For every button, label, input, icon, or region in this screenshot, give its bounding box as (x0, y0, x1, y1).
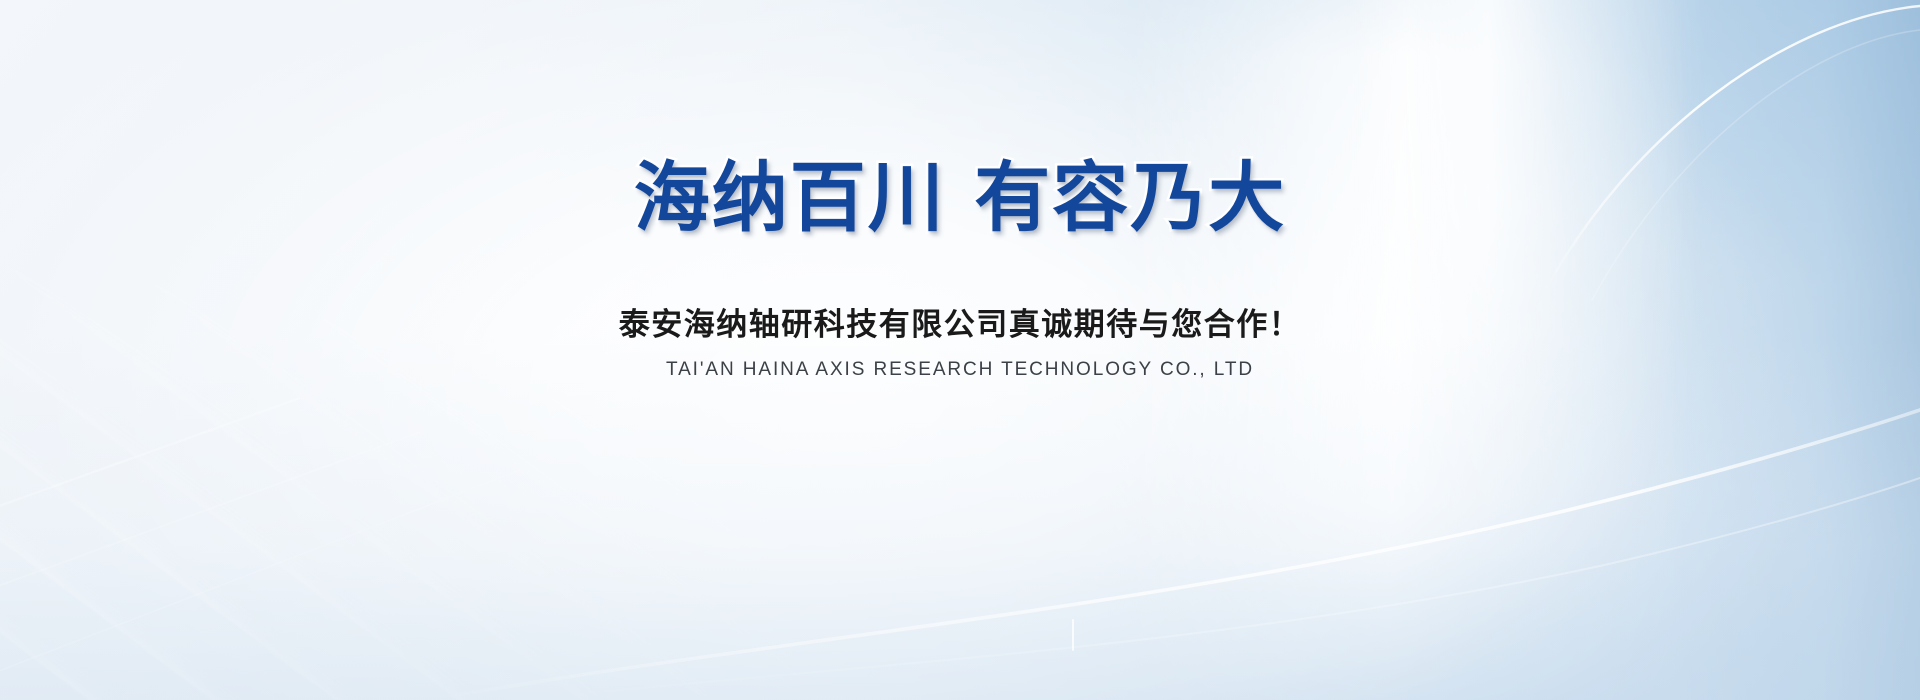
banner-content: 海纳百川 有容乃大 泰安海纳轴研科技有限公司真诚期待与您合作！ TAI'AN H… (0, 0, 1920, 700)
hero-banner: 海纳百川 有容乃大 泰安海纳轴研科技有限公司真诚期待与您合作！ TAI'AN H… (0, 0, 1920, 700)
banner-subtitle-chinese: 泰安海纳轴研科技有限公司真诚期待与您合作！ (0, 305, 1920, 347)
banner-headline: 海纳百川 有容乃大 (0, 160, 1920, 236)
banner-subtitle-english: TAI'AN HAINA AXIS RESEARCH TECHNOLOGY CO… (0, 359, 1920, 382)
banner-subtitle-block: 泰安海纳轴研科技有限公司真诚期待与您合作！ TAI'AN HAINA AXIS … (0, 305, 1920, 382)
